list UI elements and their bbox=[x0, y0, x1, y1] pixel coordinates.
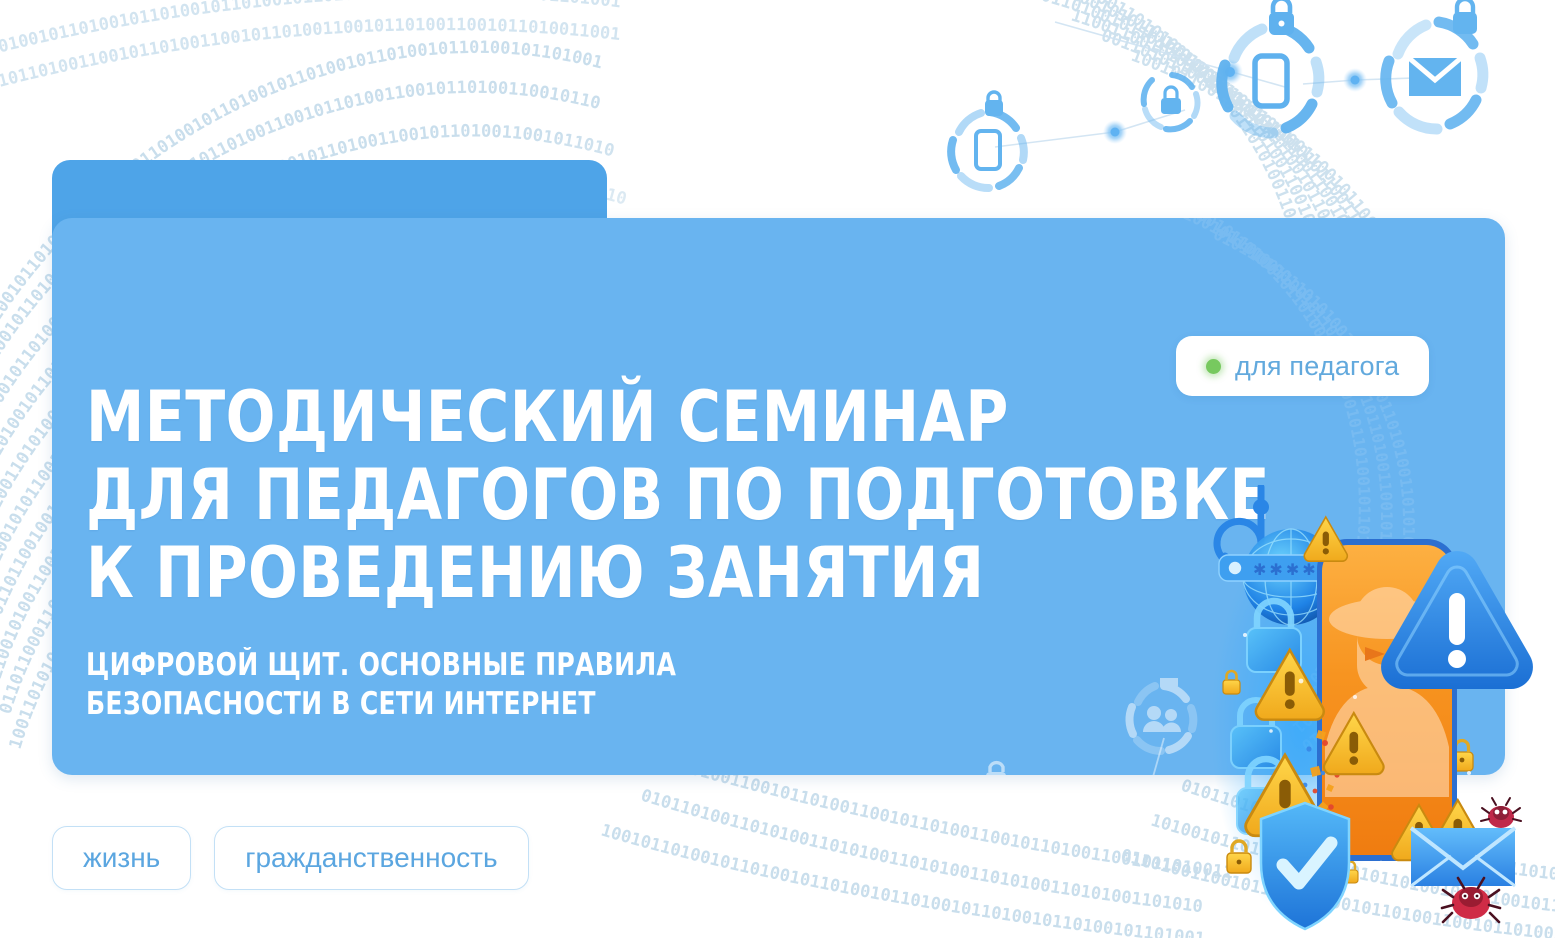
page-title: МЕТОДИЧЕСКИЙ СЕМИНАР ДЛЯ ПЕДАГОГОВ ПО ПО… bbox=[86, 378, 1183, 612]
card-network-links bbox=[1024, 738, 1164, 775]
status-dot-icon bbox=[1206, 359, 1221, 374]
tag-item[interactable]: гражданственность bbox=[214, 826, 528, 890]
lock-circle-icon bbox=[1144, 75, 1198, 129]
bug-icon bbox=[1481, 798, 1521, 828]
title-line-3: К ПРОВЕДЕНИЮ ЗАНЯТИЯ bbox=[86, 534, 1183, 612]
tag-list: жизнь гражданственность bbox=[52, 826, 529, 890]
padlock-icon bbox=[1343, 862, 1358, 884]
poster-root: 0110100101101001011010010110100101101001… bbox=[0, 0, 1555, 938]
bug-icon bbox=[1442, 878, 1500, 922]
padlock-icon bbox=[1271, 863, 1303, 905]
audience-badge[interactable]: для педагога bbox=[1176, 336, 1429, 396]
shield-check-icon bbox=[1261, 803, 1349, 929]
svg-text:100101101001100101101001100101: 1001011010011001011010011001011010011001… bbox=[0, 15, 621, 100]
warning-triangle-icon bbox=[1392, 805, 1446, 860]
phone-lock-circle-icon bbox=[1222, 0, 1319, 133]
folder-body: 0110100101101001011010010110100101101001… bbox=[52, 218, 1505, 775]
envelope-lock-circle-icon bbox=[1386, 0, 1483, 129]
title-line-2: ДЛЯ ПЕДАГОГОВ ПО ПОДГОТОВКЕ bbox=[86, 456, 1183, 534]
folder-card: 0110100101101001011010010110100101101001… bbox=[52, 160, 1505, 775]
network-nodes bbox=[1103, 59, 1367, 144]
subtitle-line-2: БЕЗОПАСНОСТИ В СЕТИ ИНТЕРНЕТ bbox=[86, 685, 1148, 724]
network-links bbox=[995, 22, 1445, 147]
page-subtitle: ЦИФРОВОЙ ЩИТ. ОСНОВНЫЕ ПРАВИЛА БЕЗОПАСНО… bbox=[86, 646, 1148, 724]
svg-text:011010010110100101101001011010: 0110100101101001011010010110100101101001… bbox=[0, 0, 622, 65]
tag-item[interactable]: жизнь bbox=[52, 826, 191, 890]
title-line-1: МЕТОДИЧЕСКИЙ СЕМИНАР bbox=[86, 378, 1183, 456]
audience-badge-label: для педагога bbox=[1235, 351, 1399, 382]
cloud-lock-circle-icon bbox=[950, 763, 1026, 775]
warning-triangle-icon bbox=[1428, 800, 1488, 861]
padlock-icon bbox=[1227, 841, 1251, 873]
subtitle-line-1: ЦИФРОВОЙ ЩИТ. ОСНОВНЫЕ ПРАВИЛА bbox=[86, 646, 1148, 685]
card-headings: МЕТОДИЧЕСКИЙ СЕМИНАР ДЛЯ ПЕДАГОГОВ ПО ПО… bbox=[86, 378, 1266, 724]
envelope-bug-icon bbox=[1411, 828, 1515, 886]
